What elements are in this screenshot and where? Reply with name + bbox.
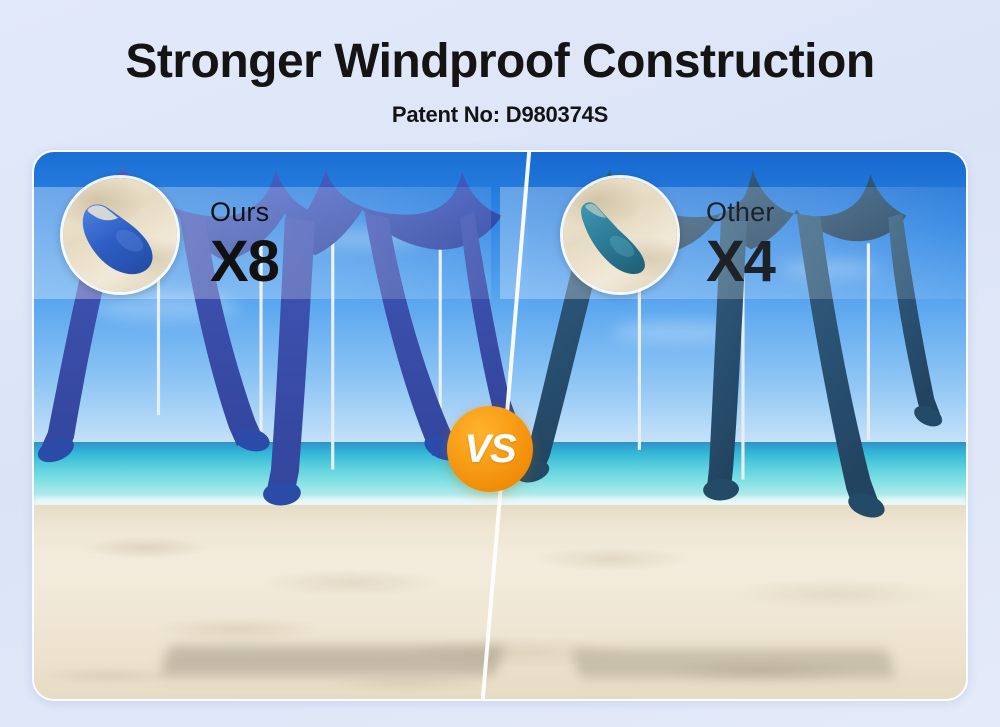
comparison-panel: Ours X8 Other X4 VS bbox=[32, 150, 968, 701]
label-name-left: Ours bbox=[210, 199, 279, 226]
label-name-right: Other bbox=[706, 199, 775, 226]
vs-label: VS bbox=[464, 427, 515, 472]
vs-badge: VS bbox=[447, 406, 533, 492]
page-title: Stronger Windproof Construction bbox=[0, 0, 1000, 86]
label-other: Other X4 bbox=[706, 199, 775, 291]
header: Stronger Windproof Construction Patent N… bbox=[0, 0, 1000, 128]
label-count-left: X8 bbox=[210, 233, 279, 291]
promo-graphic: Stronger Windproof Construction Patent N… bbox=[0, 0, 1000, 727]
sandbag-photo-left bbox=[60, 175, 180, 295]
sandbag-icon bbox=[63, 178, 177, 292]
label-count-right: X4 bbox=[706, 233, 775, 291]
patent-subtitle: Patent No: D980374S bbox=[0, 86, 1000, 128]
label-ours: Ours X8 bbox=[210, 199, 279, 291]
sandbag-photo-right bbox=[560, 175, 680, 295]
sandbag-icon bbox=[563, 178, 677, 292]
